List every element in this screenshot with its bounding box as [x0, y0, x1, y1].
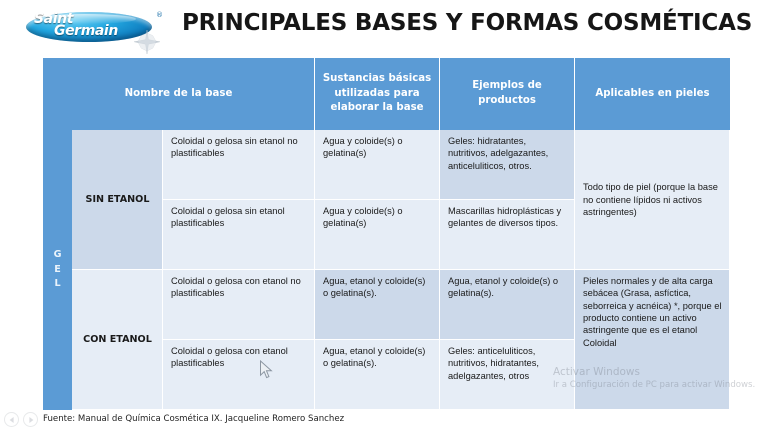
- slide-header: Saint Germain ® PRINCIPALES BASES Y FORM…: [0, 0, 768, 52]
- table-cell-skin-group1: Todo tipo de piel (porque la base no con…: [575, 130, 730, 270]
- presentation-slide: Saint Germain ® PRINCIPALES BASES Y FORM…: [0, 0, 768, 432]
- table-cell-substances-r1: Agua y coloide(s) o gelatina(s): [315, 130, 440, 200]
- column-header-sustancias: Sustancias básicas utilizadas para elabo…: [315, 58, 440, 130]
- gel-letter-g: G: [54, 248, 62, 263]
- group-cell-sin-etanol: SIN ETANOL: [72, 130, 163, 270]
- table-cell-substances-r3: Agua, etanol y coloide(s) o gelatina(s).: [315, 270, 440, 340]
- sparkle-icon: [134, 30, 160, 54]
- chevron-left-glyph: [9, 417, 13, 423]
- chevron-left-icon[interactable]: [4, 412, 19, 427]
- logo-word-germain: Germain: [54, 23, 118, 39]
- table-cell-skin-group2: Pieles normales y de alta carga sebácea …: [575, 270, 730, 410]
- gel-letter-e: E: [54, 263, 61, 278]
- gel-letter-l: L: [54, 277, 60, 292]
- table-cell-examples-r3: Agua, etanol y coloide(s) o gelatina(s).: [440, 270, 575, 340]
- table-cell-examples-r2: Mascarillas hidroplásticas y gelantes de…: [440, 200, 575, 270]
- cosmetic-bases-table: Nombre de la base Sustancias básicas uti…: [43, 58, 730, 410]
- column-header-ejemplos: Ejemplos de productos: [440, 58, 575, 130]
- chevron-right-glyph: [29, 417, 33, 423]
- chevron-right-icon[interactable]: [23, 412, 38, 427]
- table-cell-name-r3: Coloidal o gelosa con etanol no plastifi…: [163, 270, 315, 340]
- page-title: PRINCIPALES BASES Y FORMAS COSMÉTICAS: [182, 10, 742, 36]
- table-cell-examples-r1: Geles: hidratantes, nutritivos, adelgaza…: [440, 130, 575, 200]
- group-label-gel: G E L: [43, 130, 72, 410]
- table-cell-substances-r2: Agua y coloide(s) o gelatina(s): [315, 200, 440, 270]
- group-cell-con-etanol: CON ETANOL: [72, 270, 163, 410]
- table-header-row: Nombre de la base Sustancias básicas uti…: [43, 58, 730, 130]
- table-cell-name-r1: Coloidal o gelosa sin etanol no plastifi…: [163, 130, 315, 200]
- column-header-nombre: Nombre de la base: [43, 58, 315, 130]
- registered-trademark-icon: ®: [156, 11, 163, 19]
- table-cell-substances-r4: Agua, etanol y coloide(s) o gelatina(s).: [315, 340, 440, 410]
- table-cell-name-r4: Coloidal o gelosa con etanol plastificab…: [163, 340, 315, 410]
- saint-germain-logo: Saint Germain ®: [22, 6, 172, 48]
- table-cell-name-r2: Coloidal o gelosa sin etanol plastificab…: [163, 200, 315, 270]
- mouse-pointer-icon: [259, 360, 273, 380]
- table-cell-examples-r4: Geles: anticeluliticos, nutritivos, hidr…: [440, 340, 575, 410]
- source-citation: Fuente: Manual de Química Cosmética IX. …: [43, 414, 344, 424]
- column-header-pieles: Aplicables en pieles: [575, 58, 730, 130]
